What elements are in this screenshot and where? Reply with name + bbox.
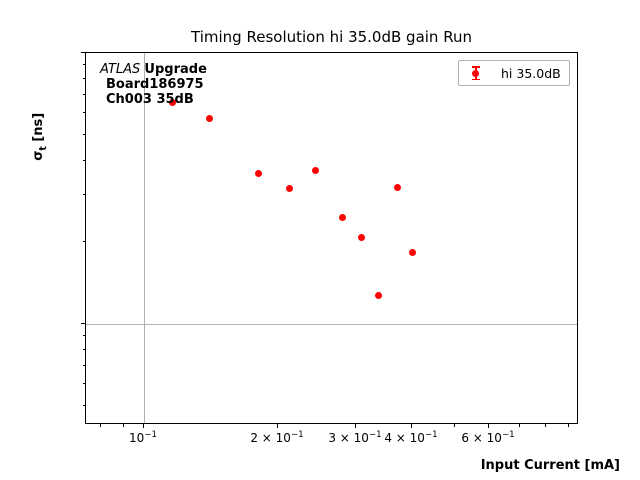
gridline-vertical-0 — [144, 53, 145, 423]
annotation-channel: Ch003 35dB — [100, 92, 207, 107]
data-point — [358, 234, 365, 241]
y-axis-label-units: [ns] — [31, 113, 46, 146]
data-point — [375, 292, 382, 299]
x-tick-label-0: 10−1 — [129, 430, 157, 445]
x-tick-minor — [123, 424, 124, 427]
atlas-label: ATLAS — [100, 62, 140, 77]
data-point — [409, 249, 416, 256]
y-axis-label-sigma: σ — [31, 151, 46, 161]
x-tick-label-4: 6 × 10−1 — [461, 430, 514, 445]
data-point — [394, 184, 401, 191]
legend-label-hi-35db: hi 35.0dB — [501, 66, 561, 81]
x-tick-label-1: 2 × 10−1 — [250, 430, 303, 445]
data-point — [255, 170, 262, 177]
data-point — [339, 214, 346, 221]
chart-title: Timing Resolution hi 35.0dB gain Run — [85, 28, 578, 46]
x-tick-minor — [100, 424, 101, 427]
annotation-line-1: ATLAS Upgrade — [100, 62, 207, 77]
x-tick-major-1 — [277, 424, 278, 428]
x-tick-major-3 — [411, 424, 412, 428]
annotation-board: Board186975 — [100, 77, 207, 92]
legend[interactable]: hi 35.0dB — [458, 60, 570, 86]
x-tick-minor — [545, 424, 546, 427]
upgrade-label: Upgrade — [144, 62, 206, 77]
x-tick-minor — [454, 424, 455, 427]
figure-canvas: Timing Resolution hi 35.0dB gain Run σt … — [0, 0, 640, 480]
x-tick-major-0 — [143, 424, 144, 428]
legend-marker-icon — [465, 65, 487, 81]
x-tick-minor — [568, 424, 569, 427]
x-tick-label-3: 4 × 10−1 — [384, 430, 437, 445]
x-axis-label: Input Current [mA] — [0, 458, 620, 473]
gridline-horizontal-0 — [86, 324, 577, 325]
x-tick-major-4 — [488, 424, 489, 428]
x-tick-label-2: 3 × 10−1 — [328, 430, 381, 445]
y-axis-label-subscript: t — [38, 146, 49, 150]
data-point — [206, 115, 213, 122]
x-tick-major-2 — [355, 424, 356, 428]
atlas-annotation: ATLAS Upgrade Board186975 Ch003 35dB — [100, 62, 207, 107]
data-point — [312, 167, 319, 174]
data-point — [286, 185, 293, 192]
x-tick-minor — [519, 424, 520, 427]
plot-area — [85, 52, 578, 424]
y-axis-label: σt [ns] — [31, 87, 49, 187]
